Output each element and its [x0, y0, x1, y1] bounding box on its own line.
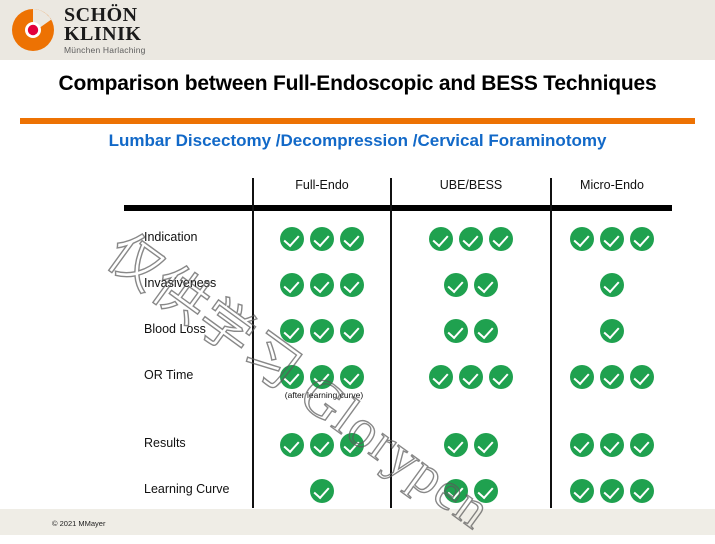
rating-cell — [552, 224, 672, 254]
rating-cell — [552, 270, 672, 300]
check-icon — [630, 479, 654, 503]
brand-line-schoen: SCHÖN — [64, 5, 146, 25]
check-icon — [570, 365, 594, 389]
table-header-rule — [124, 205, 672, 211]
row-label: Invasiveness — [144, 276, 216, 290]
check-icon — [310, 433, 334, 457]
row-label: OR Time — [144, 368, 193, 382]
brand-wordmark: SCHÖN KLINIK München Harlaching — [64, 5, 146, 55]
check-icon — [630, 227, 654, 251]
row-label: Learning Curve — [144, 482, 229, 496]
rating-cell — [552, 316, 672, 346]
check-icon — [280, 365, 304, 389]
check-icon — [474, 273, 498, 297]
table-header-row: Full-EndoUBE/BESSMicro-Endo — [0, 178, 715, 202]
check-icon — [444, 433, 468, 457]
check-icon — [459, 227, 483, 251]
brand-line-klinik: KLINIK — [64, 24, 146, 44]
check-icon — [600, 479, 624, 503]
check-icon — [280, 433, 304, 457]
check-icon — [429, 365, 453, 389]
check-icon — [280, 227, 304, 251]
check-icon — [310, 319, 334, 343]
check-icon — [340, 227, 364, 251]
rating-cell — [254, 224, 390, 254]
table-row: Learning Curve — [0, 470, 715, 510]
rating-cell — [552, 430, 672, 460]
check-icon — [570, 227, 594, 251]
check-icon — [310, 227, 334, 251]
table-row: OR Time(after learning curve) — [0, 356, 715, 396]
table-row: Indication — [0, 218, 715, 258]
rating-cell — [254, 316, 390, 346]
rating-cell — [254, 430, 390, 460]
column-header-3: Micro-Endo — [552, 178, 672, 192]
check-icon — [340, 433, 364, 457]
check-icon — [310, 479, 334, 503]
check-icon — [570, 479, 594, 503]
check-icon — [340, 365, 364, 389]
check-icon — [474, 479, 498, 503]
rating-cell — [254, 476, 390, 506]
check-icon — [600, 433, 624, 457]
check-icon — [489, 365, 513, 389]
table-row: Blood Loss — [0, 310, 715, 350]
table-row: Results — [0, 424, 715, 464]
rating-cell — [392, 430, 550, 460]
row-label: Blood Loss — [144, 322, 206, 336]
rating-cell — [552, 362, 672, 392]
rating-cell — [392, 224, 550, 254]
check-icon — [340, 273, 364, 297]
check-icon — [600, 319, 624, 343]
brand-logo-block: SCHÖN KLINIK München Harlaching — [8, 2, 148, 58]
cell-note: (after learning curve) — [256, 390, 392, 400]
check-icon — [489, 227, 513, 251]
check-icon — [474, 319, 498, 343]
row-label: Indication — [144, 230, 198, 244]
schoen-klinik-circle-logo-icon — [10, 7, 56, 53]
header-band: SCHÖN KLINIK München Harlaching — [0, 0, 715, 60]
rating-cell — [552, 476, 672, 506]
check-icon — [600, 273, 624, 297]
rating-cell — [392, 362, 550, 392]
check-icon — [340, 319, 364, 343]
rating-cell — [254, 362, 390, 392]
check-icon — [280, 319, 304, 343]
check-icon — [474, 433, 498, 457]
copyright-notice: © 2021 MMayer — [52, 519, 105, 528]
check-icon — [429, 227, 453, 251]
check-icon — [600, 365, 624, 389]
check-icon — [280, 273, 304, 297]
page-title: Comparison between Full-Endoscopic and B… — [0, 72, 715, 96]
check-icon — [444, 319, 468, 343]
check-icon — [630, 365, 654, 389]
check-icon — [310, 273, 334, 297]
check-icon — [444, 479, 468, 503]
check-icon — [459, 365, 483, 389]
comparison-table: Full-EndoUBE/BESSMicro-Endo IndicationIn… — [0, 170, 715, 510]
check-icon — [444, 273, 468, 297]
rating-cell — [392, 476, 550, 506]
check-icon — [310, 365, 334, 389]
check-icon — [570, 433, 594, 457]
check-icon — [600, 227, 624, 251]
accent-divider-bar — [20, 118, 695, 124]
check-icon — [630, 433, 654, 457]
column-header-2: UBE/BESS — [392, 178, 550, 192]
row-label: Results — [144, 436, 186, 450]
page-subtitle: Lumbar Discectomy /Decompression /Cervic… — [0, 131, 715, 151]
column-header-1: Full-Endo — [254, 178, 390, 192]
rating-cell — [392, 316, 550, 346]
footer-band — [0, 508, 715, 535]
rating-cell — [392, 270, 550, 300]
table-row: Invasiveness — [0, 264, 715, 304]
rating-cell — [254, 270, 390, 300]
brand-subtitle: München Harlaching — [64, 46, 146, 55]
